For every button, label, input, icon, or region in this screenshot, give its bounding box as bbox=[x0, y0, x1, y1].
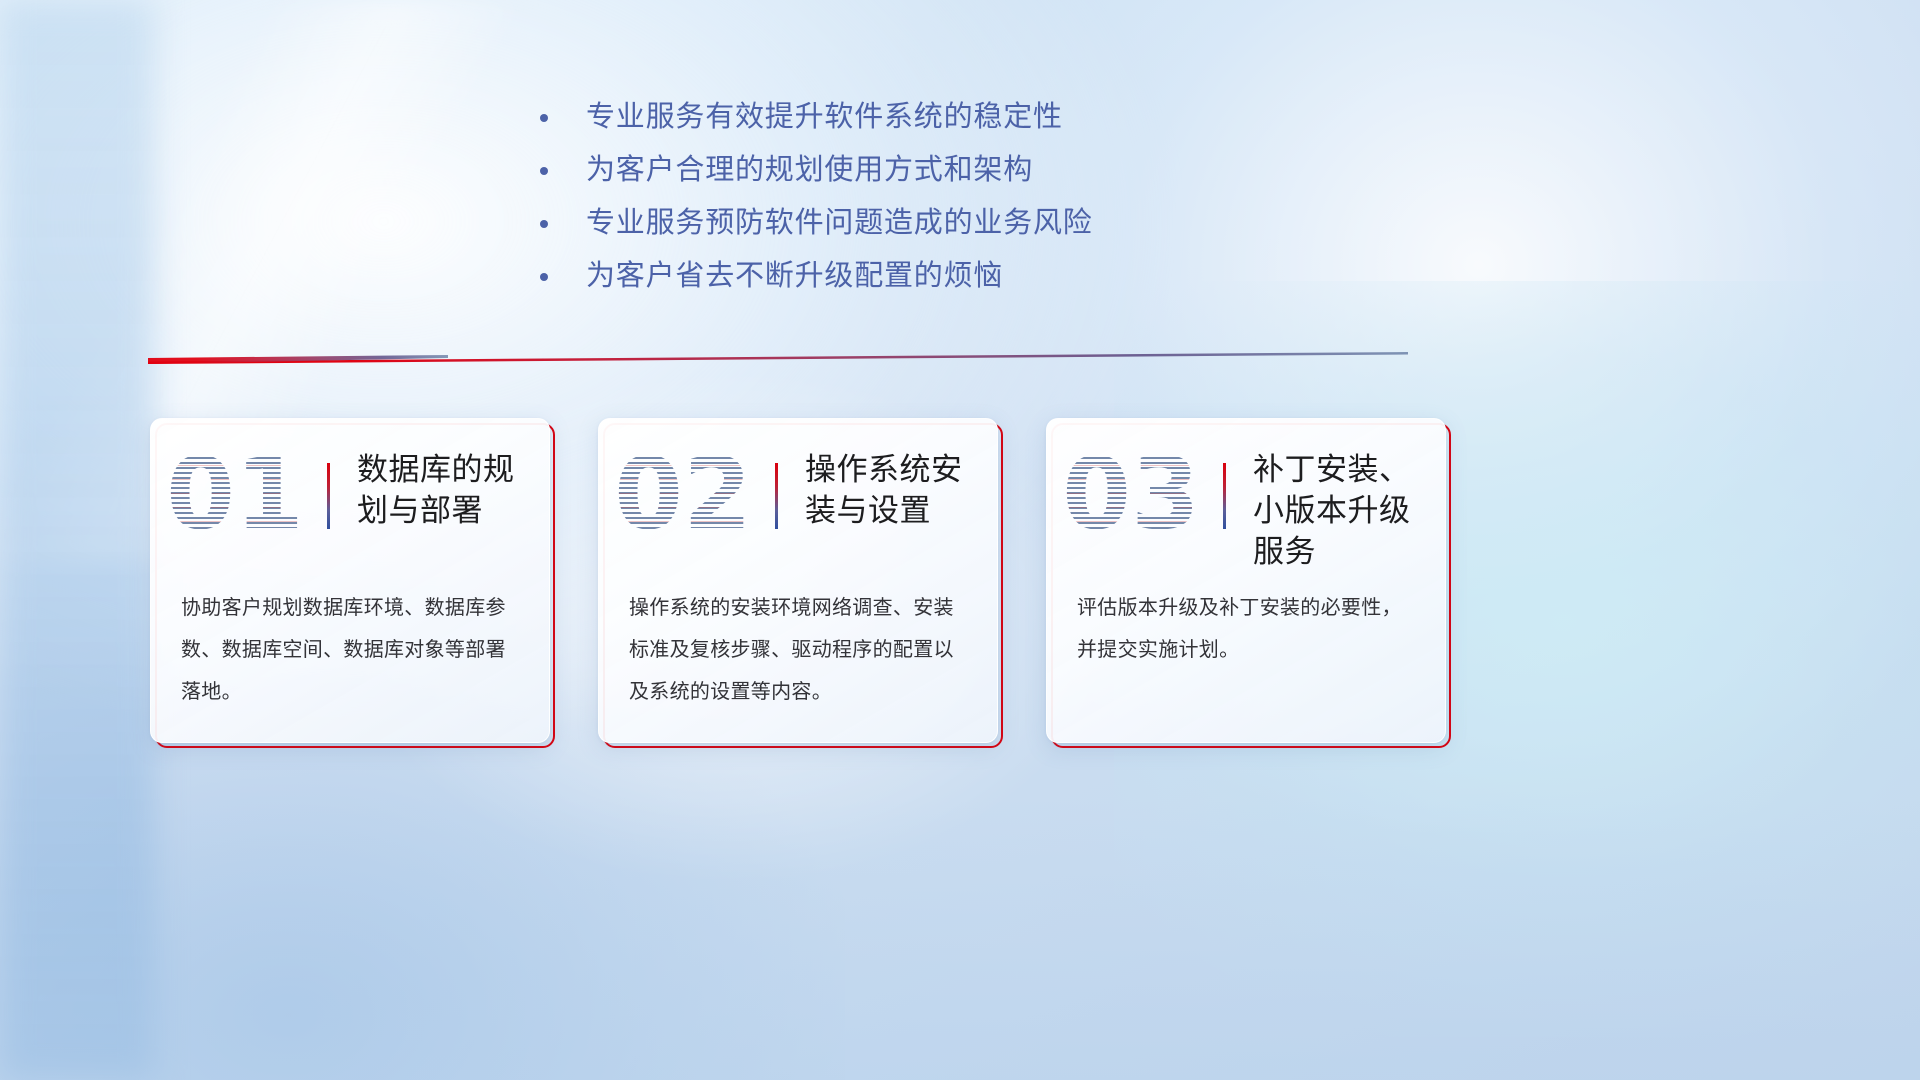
card-surface: 02 02 操作系统安装与设置 操作系统的安装环境网络调查、安装标准及复核步骤、… bbox=[598, 418, 998, 743]
card-description: 协助客户规划数据库环境、数据库参数、数据库空间、数据库对象等部署落地。 bbox=[181, 587, 523, 713]
list-item: 为客户省去不断升级配置的烦恼 bbox=[540, 251, 1093, 303]
card-title: 补丁安装、小版本升级服务 bbox=[1253, 449, 1431, 573]
bullet-text: 专业服务有效提升软件系统的稳定性 bbox=[586, 98, 1063, 137]
card-title-rule bbox=[327, 463, 330, 529]
card-title-rule bbox=[775, 463, 778, 529]
card-number-watermark: 02 02 bbox=[613, 437, 753, 553]
card-title: 操作系统安装与设置 bbox=[805, 449, 983, 531]
card-number-watermark: 03 03 bbox=[1061, 437, 1201, 553]
service-card-03[interactable]: 03 03 补丁安装、小版本升级服务 评估版本升级及补丁安装的必要性，并提交实施… bbox=[1046, 418, 1446, 743]
card-number-glyph-tint: 03 bbox=[1061, 437, 1201, 553]
card-description: 操作系统的安装环境网络调查、安装标准及复核步骤、驱动程序的配置以及系统的设置等内… bbox=[629, 587, 971, 713]
section-divider bbox=[148, 344, 1408, 366]
bullet-text: 为客户合理的规划使用方式和架构 bbox=[586, 151, 1033, 190]
benefits-bullet-list: 专业服务有效提升软件系统的稳定性 为客户合理的规划使用方式和架构 专业服务预防软… bbox=[540, 92, 1093, 304]
bullet-dot-icon bbox=[540, 220, 548, 228]
service-card-02[interactable]: 02 02 操作系统安装与设置 操作系统的安装环境网络调查、安装标准及复核步骤、… bbox=[598, 418, 998, 743]
card-surface: 03 03 补丁安装、小版本升级服务 评估版本升级及补丁安装的必要性，并提交实施… bbox=[1046, 418, 1446, 743]
background-bottom-fade bbox=[0, 799, 1920, 1080]
card-number-glyph-tint: 01 bbox=[165, 437, 305, 553]
list-item: 专业服务有效提升软件系统的稳定性 bbox=[540, 92, 1093, 144]
bullet-dot-icon bbox=[540, 273, 548, 281]
service-cards: 01 01 数据库的规划与部署 协助客户规划数据库环境、数据库参数、数据库空间、… bbox=[0, 418, 1920, 748]
tapered-rule-icon bbox=[148, 344, 1408, 366]
service-card-01[interactable]: 01 01 数据库的规划与部署 协助客户规划数据库环境、数据库参数、数据库空间、… bbox=[150, 418, 550, 743]
list-item: 专业服务预防软件问题造成的业务风险 bbox=[540, 198, 1093, 250]
bullet-text: 专业服务预防软件问题造成的业务风险 bbox=[586, 204, 1093, 243]
card-surface: 01 01 数据库的规划与部署 协助客户规划数据库环境、数据库参数、数据库空间、… bbox=[150, 418, 550, 743]
card-number-watermark: 01 01 bbox=[165, 437, 305, 553]
list-item: 为客户合理的规划使用方式和架构 bbox=[540, 145, 1093, 197]
card-title: 数据库的规划与部署 bbox=[357, 449, 535, 531]
card-description: 评估版本升级及补丁安装的必要性，并提交实施计划。 bbox=[1077, 587, 1419, 671]
bullet-text: 为客户省去不断升级配置的烦恼 bbox=[586, 257, 1003, 296]
bullet-dot-icon bbox=[540, 114, 548, 122]
card-number-glyph-tint: 02 bbox=[613, 437, 753, 553]
bullet-dot-icon bbox=[540, 167, 548, 175]
card-title-rule bbox=[1223, 463, 1226, 529]
